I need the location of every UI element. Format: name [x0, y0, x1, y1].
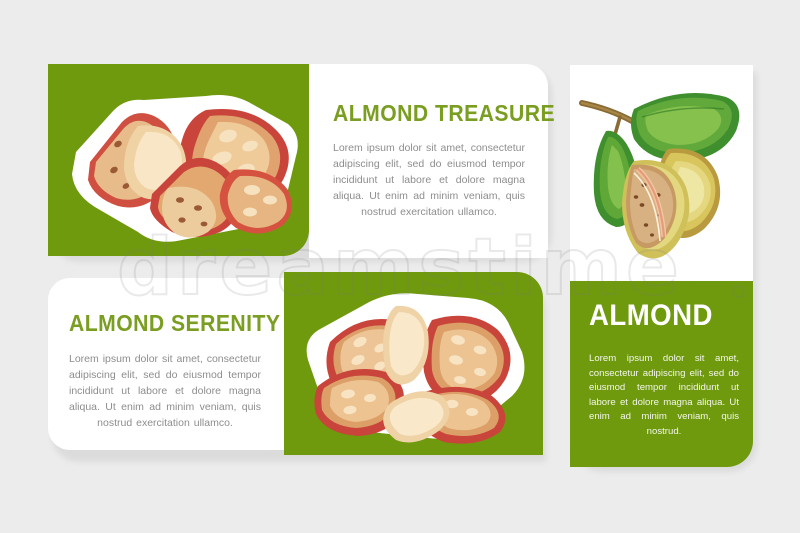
almond-branch-illustration	[570, 65, 753, 281]
poster-canvas: ALMOND TREASURE Lorem ipsum dolor sit am…	[0, 0, 800, 533]
card-1-image-panel	[48, 64, 309, 256]
card-3-body: Lorem ipsum dolor sit amet, consectetur …	[589, 352, 739, 439]
card-2-image-panel	[284, 272, 543, 455]
cracked-almonds-illustration	[48, 64, 309, 256]
card-1-title: ALMOND TREASURE	[333, 100, 555, 127]
card-2-body: Lorem ipsum dolor sit amet, consectetur …	[69, 352, 261, 432]
card-3-title: ALMOND	[589, 299, 713, 333]
card-1-body: Lorem ipsum dolor sit amet, consectetur …	[333, 141, 525, 221]
card-3-image-panel	[570, 65, 753, 281]
almond-cluster-illustration	[284, 272, 543, 455]
card-2-title: ALMOND SERENITY	[69, 310, 280, 337]
